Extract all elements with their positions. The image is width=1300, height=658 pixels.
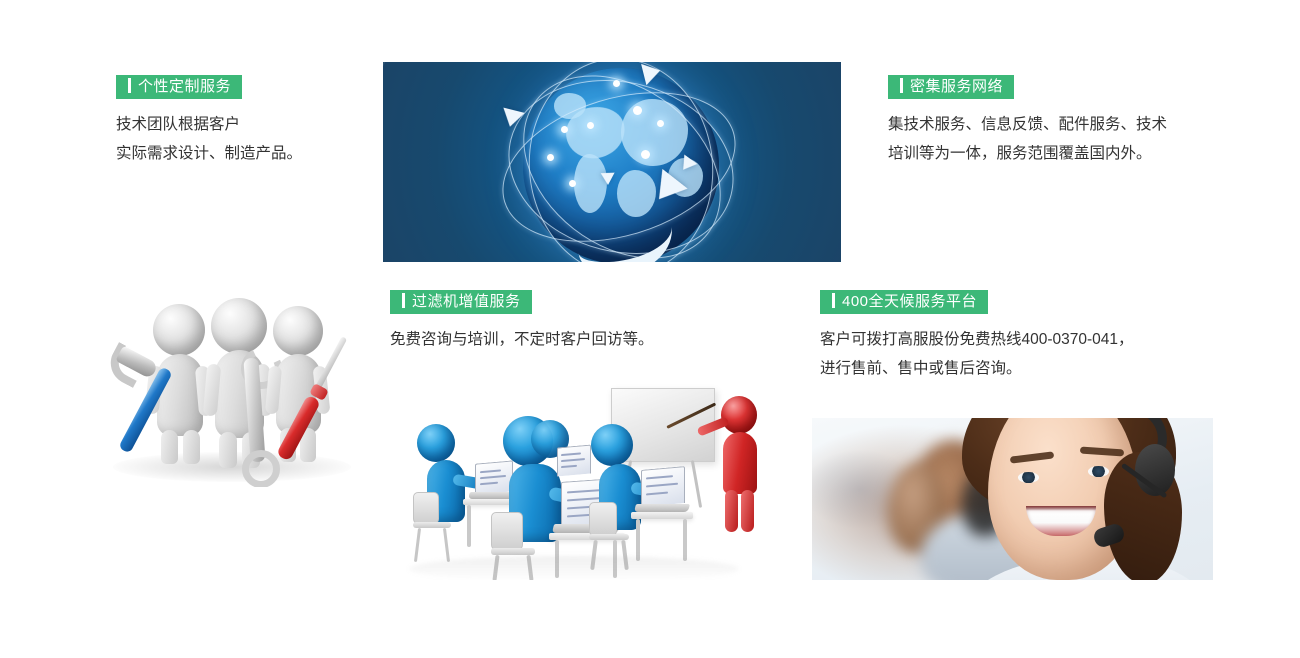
figure-leg bbox=[183, 430, 200, 464]
whiteboard-leg bbox=[691, 460, 702, 508]
network-node bbox=[641, 150, 650, 159]
figure-head bbox=[211, 298, 267, 354]
figure-head bbox=[273, 306, 323, 356]
body-line: 客户可拨打高服股份免费热线400-0370-041， bbox=[820, 325, 1134, 354]
network-node bbox=[657, 120, 664, 127]
section-filter-value-added: 过滤机增值服务 免费咨询与培训，不定时客户回访等。 bbox=[390, 290, 654, 354]
chair-back bbox=[491, 512, 523, 550]
agent-eye bbox=[1088, 466, 1109, 477]
network-node bbox=[613, 80, 620, 87]
screen-line bbox=[561, 458, 585, 462]
global-network-globe-image bbox=[383, 62, 841, 262]
chair-leg bbox=[443, 528, 450, 562]
network-node bbox=[587, 122, 594, 129]
instructor-head bbox=[721, 396, 757, 434]
body-line: 免费咨询与培训，不定时客户回访等。 bbox=[390, 325, 654, 354]
section-badge-hotline-platform: 400全天候服务平台 bbox=[820, 290, 988, 314]
training-classroom-image bbox=[383, 380, 781, 580]
screen-line bbox=[561, 465, 576, 468]
figure-torso bbox=[157, 354, 203, 436]
body-line: 集技术服务、信息反馈、配件服务、技术 bbox=[888, 110, 1167, 139]
chair-back bbox=[413, 492, 439, 524]
badge-accent-bar bbox=[900, 78, 903, 93]
instructor-leg bbox=[725, 490, 738, 532]
screen-line bbox=[567, 489, 601, 493]
screen-line bbox=[561, 452, 581, 456]
figure-leg bbox=[161, 430, 178, 464]
wrench-ring-icon bbox=[242, 450, 280, 487]
screen-line bbox=[480, 475, 506, 479]
section-badge-service-network: 密集服务网络 bbox=[888, 75, 1014, 99]
student-head bbox=[417, 424, 455, 462]
agent-eye bbox=[1018, 472, 1039, 483]
body-line: 技术团队根据客户 bbox=[116, 110, 302, 139]
screen-line bbox=[646, 492, 668, 496]
desk-leg bbox=[636, 519, 640, 561]
section-service-network: 密集服务网络 集技术服务、信息反馈、配件服务、技术 培训等为一体，服务范围覆盖国… bbox=[888, 75, 1167, 168]
globe-graphic bbox=[503, 62, 733, 262]
network-node bbox=[569, 180, 576, 187]
instructor-leg bbox=[741, 490, 754, 532]
section-badge-filter-value-added: 过滤机增值服务 bbox=[390, 290, 532, 314]
body-line: 培训等为一体，服务范围覆盖国内外。 bbox=[888, 139, 1167, 168]
figure-leg bbox=[219, 432, 237, 468]
section-body-filter-value-added: 免费咨询与培训，不定时客户回访等。 bbox=[390, 325, 654, 354]
floor-reflection bbox=[409, 556, 739, 580]
chair-leg bbox=[414, 528, 421, 562]
figure-head bbox=[153, 304, 205, 356]
badge-label: 个性定制服务 bbox=[138, 78, 231, 95]
section-body-hotline-platform: 客户可拨打高服股份免费热线400-0370-041， 进行售前、售中或售后咨询。 bbox=[820, 325, 1134, 383]
chair-back bbox=[589, 502, 617, 536]
laptop-screen bbox=[641, 466, 685, 507]
laptop-screen bbox=[557, 445, 591, 477]
network-node bbox=[547, 154, 554, 161]
badge-accent-bar bbox=[402, 293, 405, 308]
flow-arrow-icon bbox=[499, 108, 524, 130]
body-line: 进行售前、售中或售后咨询。 bbox=[820, 354, 1134, 383]
section-badge-custom-service: 个性定制服务 bbox=[116, 75, 242, 99]
desk-leg bbox=[683, 519, 687, 561]
section-hotline-platform: 400全天候服务平台 客户可拨打高服股份免费热线400-0370-041， 进行… bbox=[820, 290, 1134, 383]
badge-label: 密集服务网络 bbox=[910, 78, 1003, 95]
screen-line bbox=[646, 483, 678, 488]
badge-accent-bar bbox=[832, 293, 835, 308]
call-center-agent-photo bbox=[812, 418, 1213, 580]
laptop-base bbox=[634, 504, 690, 512]
instructor-torso bbox=[723, 432, 757, 494]
screen-line bbox=[480, 482, 498, 486]
badge-label: 过滤机增值服务 bbox=[412, 293, 521, 310]
laptop-screen bbox=[475, 460, 513, 494]
student-head bbox=[591, 424, 633, 466]
section-body-service-network: 集技术服务、信息反馈、配件服务、技术 培训等为一体，服务范围覆盖国内外。 bbox=[888, 110, 1167, 168]
badge-accent-bar bbox=[128, 78, 131, 93]
three-3d-workers-with-tools-image bbox=[95, 292, 365, 487]
desk-leg bbox=[467, 505, 471, 547]
network-node bbox=[561, 126, 568, 133]
body-line: 实际需求设计、制造产品。 bbox=[116, 139, 302, 168]
screen-line bbox=[480, 469, 502, 473]
desk bbox=[631, 512, 693, 519]
network-node bbox=[633, 106, 642, 115]
service-overview-page: 个性定制服务 技术团队根据客户 实际需求设计、制造产品。 密集服务网络 集技术服… bbox=[0, 0, 1300, 658]
badge-label: 400全天候服务平台 bbox=[842, 293, 977, 310]
chair-seat bbox=[491, 548, 535, 555]
screen-line bbox=[646, 475, 673, 479]
section-body-custom-service: 技术团队根据客户 实际需求设计、制造产品。 bbox=[116, 110, 302, 168]
section-custom-service: 个性定制服务 技术团队根据客户 实际需求设计、制造产品。 bbox=[116, 75, 302, 168]
